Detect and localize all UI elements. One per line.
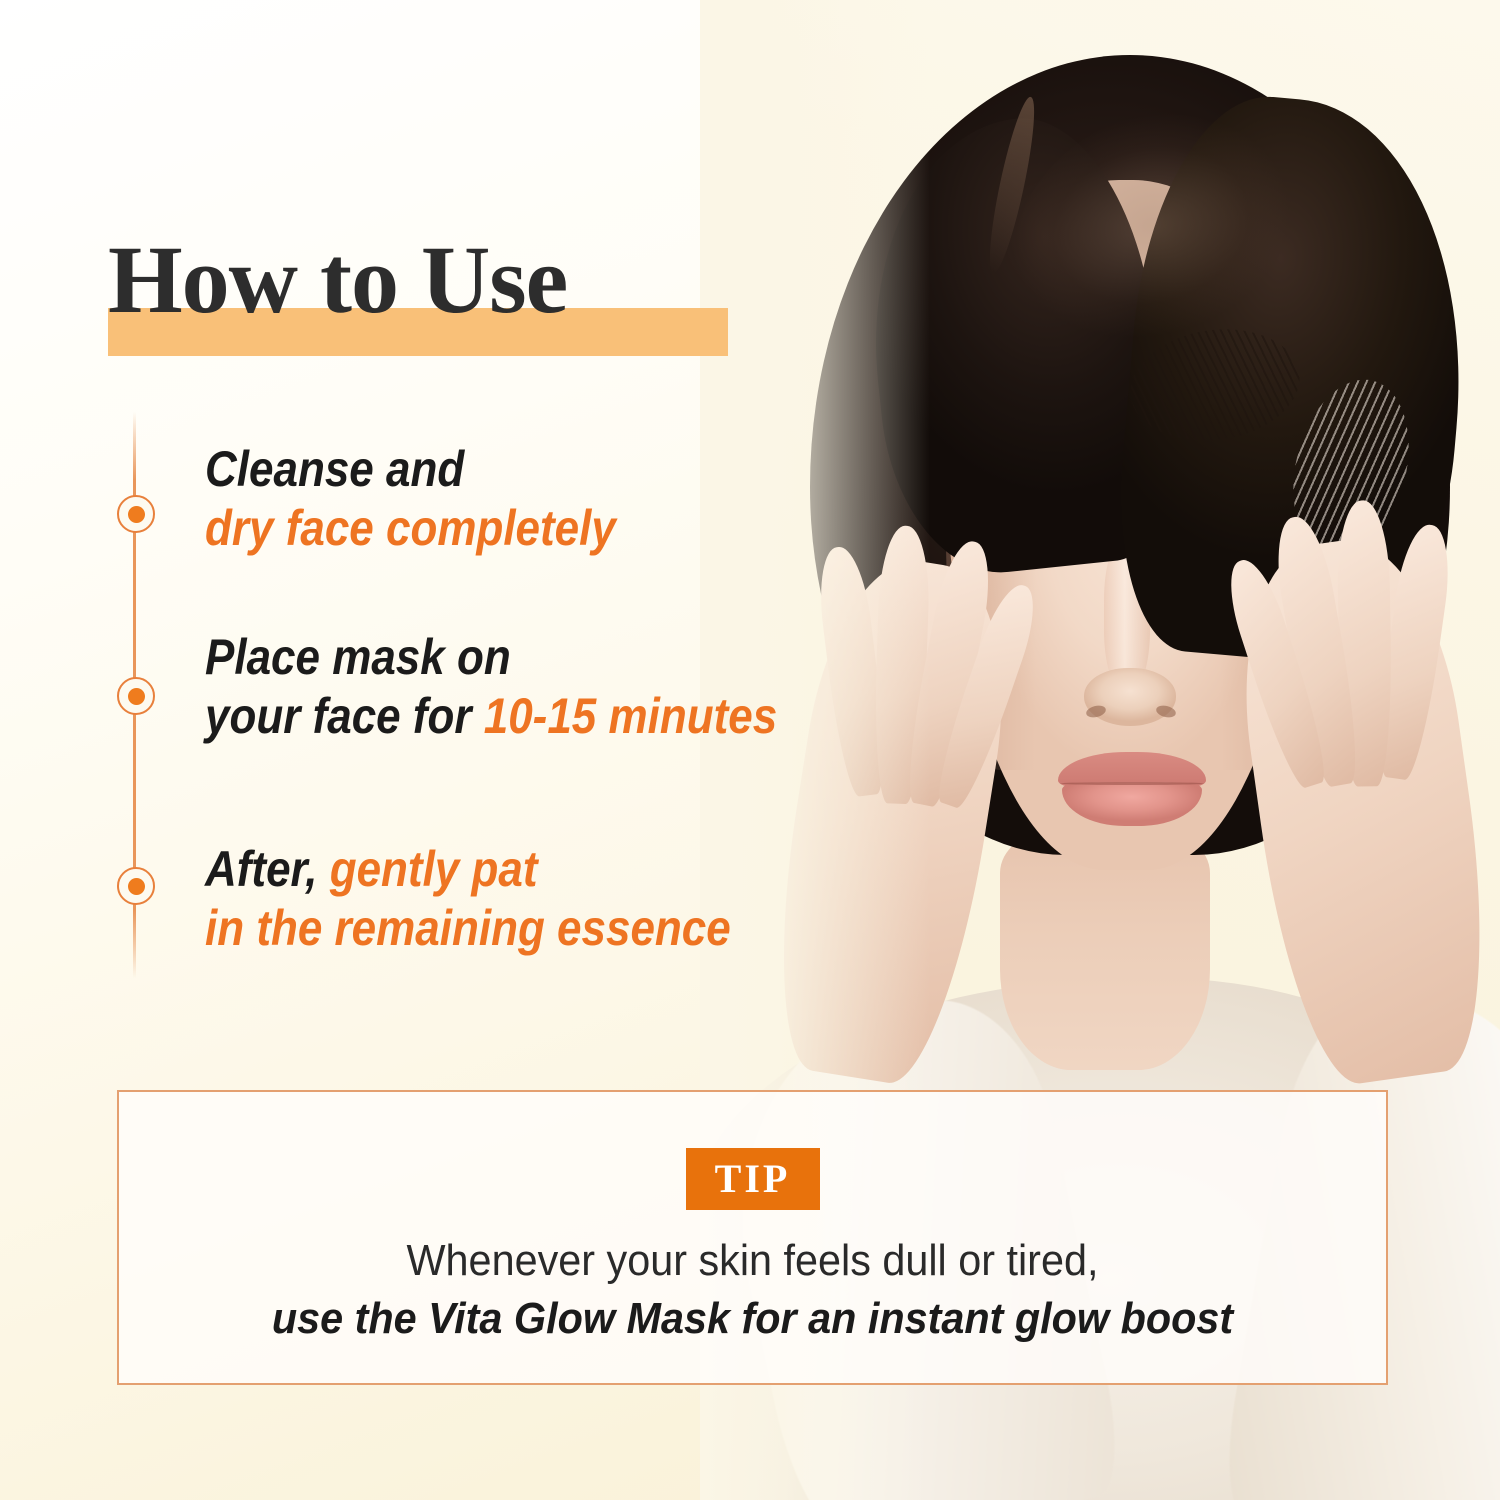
- step-item: Place mask on your face for 10-15 minute…: [205, 628, 895, 746]
- tip-text: Whenever your skin feels dull or tired, …: [119, 1232, 1386, 1349]
- step-item: Cleanse and dry face completely: [205, 440, 895, 558]
- tip-line-2: use the Vita Glow Mask for an instant gl…: [157, 1289, 1348, 1348]
- lip-line: [1060, 782, 1204, 785]
- step-text-highlight: in the remaining essence: [205, 900, 731, 956]
- step-line: your face for 10-15 minutes: [205, 687, 812, 746]
- tip-line-1: Whenever your skin feels dull or tired,: [157, 1232, 1348, 1289]
- step-text: Place mask on: [205, 629, 511, 685]
- how-to-use-poster: How to Use Cleanse and dry face complete…: [0, 0, 1500, 1500]
- step-text-highlight: gently pat: [330, 841, 538, 897]
- step-item: After, gently pat in the remaining essen…: [205, 840, 895, 958]
- step-text-highlight: 10-15 minutes: [484, 688, 777, 744]
- step-line: Cleanse and: [205, 440, 812, 499]
- step-text: After,: [205, 841, 330, 897]
- tip-badge: TIP: [686, 1148, 820, 1210]
- step-line: dry face completely: [205, 499, 812, 558]
- step-text: your face for: [205, 688, 484, 744]
- step-text-highlight: dry face completely: [205, 500, 616, 556]
- tip-badge-label: TIP: [715, 1159, 791, 1199]
- tip-box: TIP Whenever your skin feels dull or tir…: [117, 1090, 1388, 1385]
- step-text: Cleanse and: [205, 441, 464, 497]
- nose-tip: [1084, 668, 1176, 726]
- step-line: Place mask on: [205, 628, 812, 687]
- step-line: in the remaining essence: [205, 899, 812, 958]
- step-line: After, gently pat: [205, 840, 812, 899]
- steps-list: Cleanse and dry face completely Place ma…: [0, 0, 900, 1000]
